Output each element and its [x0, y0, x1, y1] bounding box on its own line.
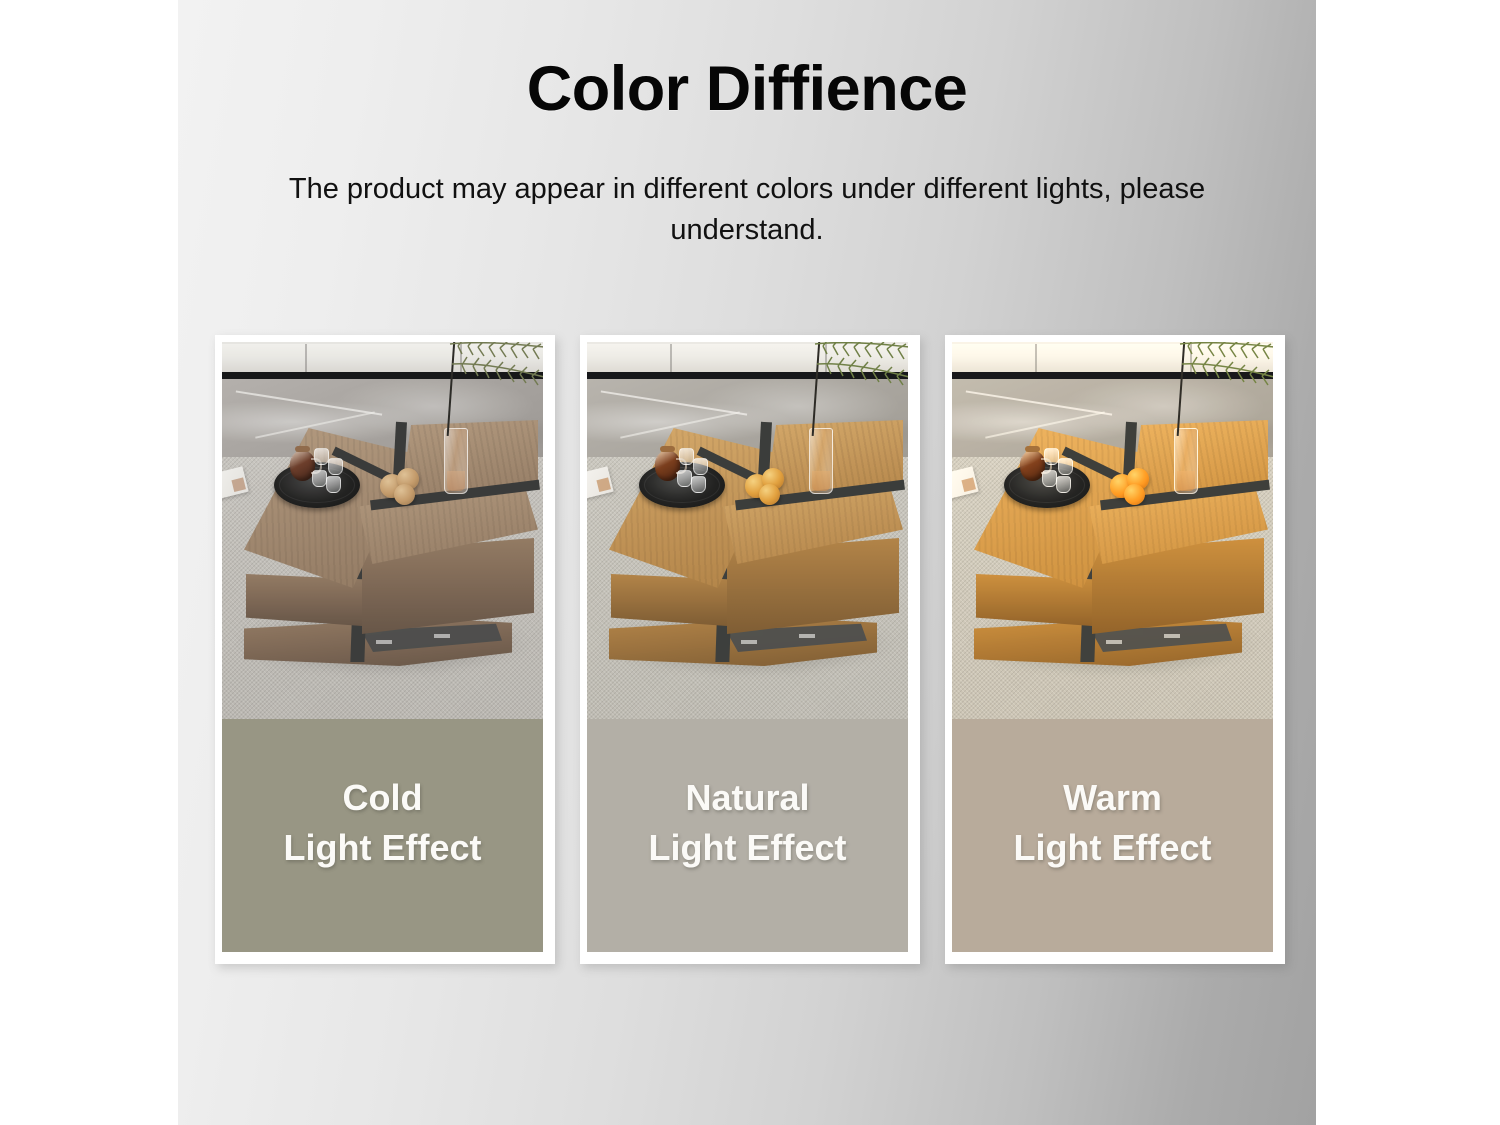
page-root: Color Diffience The product may appear i…	[0, 0, 1500, 1125]
label-line-secondary: Light Effect	[1014, 823, 1212, 873]
glass-cup	[677, 470, 692, 487]
card-inner: Cold Light Effect	[222, 342, 543, 952]
light-effect-card-cold[interactable]: Cold Light Effect	[215, 335, 555, 964]
card-inner: Natural Light Effect	[587, 342, 908, 952]
glass-cup	[1042, 470, 1057, 487]
glass-cup	[314, 448, 329, 465]
glass-cup	[1058, 458, 1073, 475]
glass-cup	[312, 470, 327, 487]
glass-vase	[809, 428, 833, 494]
glass-cup	[693, 458, 708, 475]
light-effect-card-natural[interactable]: Natural Light Effect	[580, 335, 920, 964]
product-photo-warm	[952, 342, 1273, 719]
label-block-natural: Natural Light Effect	[587, 719, 908, 952]
glass-cup	[326, 476, 341, 493]
page-subtitle: The product may appear in different colo…	[178, 169, 1316, 251]
glass-cup	[679, 448, 694, 465]
glass-cup	[1044, 448, 1059, 465]
sofa-cushions	[222, 344, 543, 372]
page-title: Color Diffience	[178, 58, 1316, 121]
orange-fruit	[394, 484, 415, 505]
label-line-secondary: Light Effect	[284, 823, 482, 873]
header: Color Diffience The product may appear i…	[178, 0, 1316, 251]
glass-cup	[691, 476, 706, 493]
label-line-secondary: Light Effect	[649, 823, 847, 873]
sofa-base	[587, 372, 908, 379]
glass-vase	[1174, 428, 1198, 494]
glass-vase	[444, 428, 468, 494]
light-effect-card-warm[interactable]: Warm Light Effect	[945, 335, 1285, 964]
sofa-base	[222, 372, 543, 379]
sofa-base	[952, 372, 1273, 379]
glass-cup	[328, 458, 343, 475]
orange-fruit	[759, 484, 780, 505]
product-photo-natural	[587, 342, 908, 719]
label-block-cold: Cold Light Effect	[222, 719, 543, 952]
card-inner: Warm Light Effect	[952, 342, 1273, 952]
label-line-primary: Cold	[343, 773, 423, 823]
product-photo-cold	[222, 342, 543, 719]
sofa-cushions	[587, 344, 908, 372]
label-line-primary: Warm	[1063, 773, 1162, 823]
light-effect-panel-row: Cold Light Effect	[0, 335, 1500, 975]
label-line-primary: Natural	[685, 773, 809, 823]
glass-cup	[1056, 476, 1071, 493]
label-block-warm: Warm Light Effect	[952, 719, 1273, 952]
orange-fruit	[1124, 484, 1145, 505]
sofa-cushions	[952, 344, 1273, 372]
